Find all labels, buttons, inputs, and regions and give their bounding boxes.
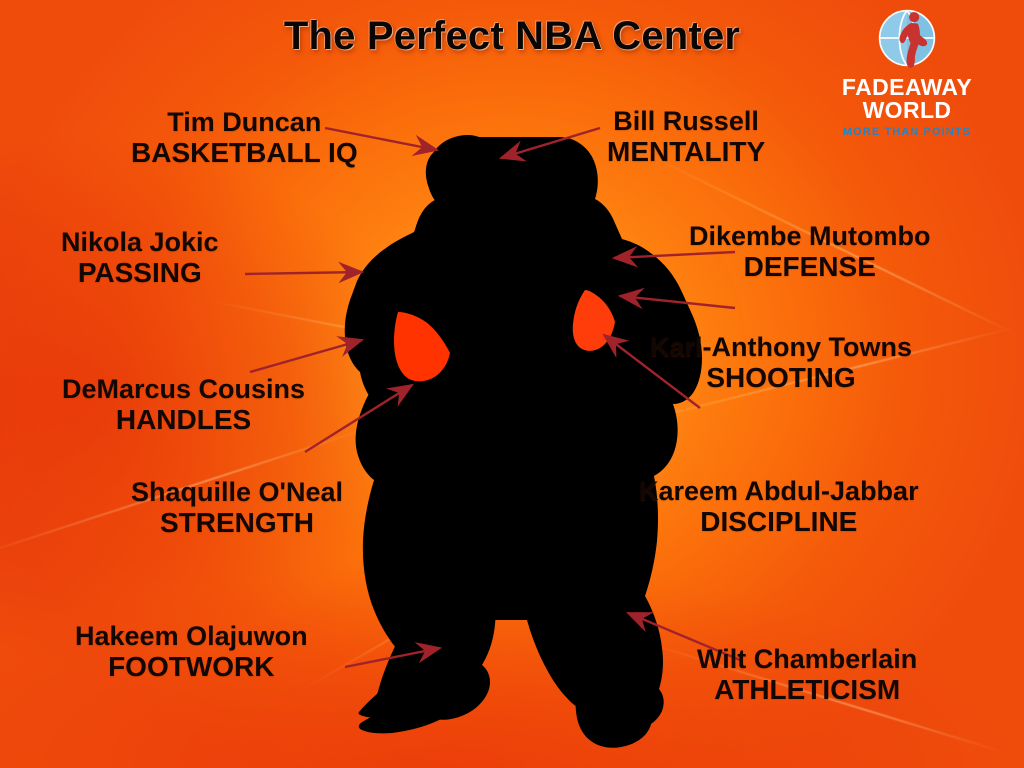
player-name: Hakeem Olajuwon — [75, 622, 308, 651]
brand-logo[interactable]: FADEAWAY WORLD MORE THAN POINTS — [798, 2, 1016, 138]
label-mentality: Bill RussellMENTALITY — [607, 107, 765, 166]
trait-name: SHOOTING — [650, 363, 912, 393]
label-basketball-iq: Tim DuncanBASKETBALL IQ — [131, 108, 358, 167]
logo-tagline: MORE THAN POINTS — [798, 127, 1016, 138]
trait-name: FOOTWORK — [75, 652, 308, 682]
trait-name: STRENGTH — [131, 508, 343, 538]
trait-name: MENTALITY — [607, 137, 765, 167]
trait-name: DEFENSE — [689, 252, 931, 282]
player-name: Kareem Abdul-Jabbar — [639, 477, 919, 506]
player-name: Bill Russell — [607, 107, 765, 136]
trait-name: BASKETBALL IQ — [131, 138, 358, 168]
label-handles: DeMarcus CousinsHANDLES — [62, 375, 305, 434]
player-name: DeMarcus Cousins — [62, 375, 305, 404]
label-shooting: Karl-Anthony TownsSHOOTING — [650, 333, 912, 392]
player-name: Nikola Jokic — [61, 228, 219, 257]
label-passing: Nikola JokicPASSING — [61, 228, 219, 287]
trait-name: PASSING — [61, 258, 219, 288]
player-name: Shaquille O'Neal — [131, 478, 343, 507]
label-defense: Dikembe MutomboDEFENSE — [689, 222, 931, 281]
trait-name: ATHLETICISM — [697, 675, 917, 705]
trait-name: HANDLES — [62, 405, 305, 435]
label-athleticism: Wilt ChamberlainATHLETICISM — [697, 645, 917, 704]
label-strength: Shaquille O'NealSTRENGTH — [131, 478, 343, 537]
player-name: Karl-Anthony Towns — [650, 333, 912, 362]
player-name: Dikembe Mutombo — [689, 222, 931, 251]
trait-name: DISCIPLINE — [639, 507, 919, 537]
label-discipline: Kareem Abdul-JabbarDISCIPLINE — [639, 477, 919, 536]
logo-name: FADEAWAY WORLD — [798, 76, 1016, 122]
player-name: Tim Duncan — [131, 108, 358, 137]
player-name: Wilt Chamberlain — [697, 645, 917, 674]
label-footwork: Hakeem OlajuwonFOOTWORK — [75, 622, 308, 681]
basketball-globe-player-icon — [871, 2, 943, 74]
infographic-canvas: The Perfect NBA Center FADEAWAY WORLD MO… — [0, 0, 1024, 768]
